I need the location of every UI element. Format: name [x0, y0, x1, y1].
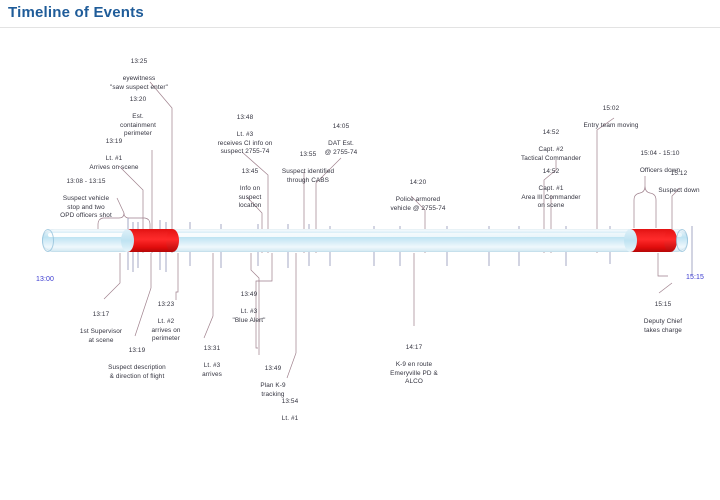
event-label-1420: 14:20 Police armored vehicle @ 2755-74 — [371, 171, 465, 221]
event-time-1405: 14:05 — [306, 123, 376, 131]
event-text-1515: Deputy Chief takes charge — [615, 318, 711, 335]
event-text-1320: Est. containment perimeter — [100, 113, 176, 138]
event-time-1325: 13:25 — [92, 58, 186, 66]
timeline-bar-left-end — [42, 229, 54, 252]
event-label-1502: 15:02 Entry team moving — [556, 97, 666, 139]
event-time-1515: 15:15 — [615, 301, 711, 309]
event-time-1420: 14:20 — [371, 179, 465, 187]
event-text-1319-desc: Suspect description & direction of fligh… — [87, 364, 187, 381]
event-text-1308: Suspect vehicle stop and two OPD officer… — [38, 195, 134, 220]
event-label-1405: 14:05 DAT Est. @ 2755-74 — [306, 115, 376, 165]
event-text-1452-capt1: Capt. #1 Area III Commander on scene — [500, 185, 602, 210]
event-text-1355: Suspect identified through CABS — [262, 168, 354, 185]
event-text-1502: Entry team moving — [556, 122, 666, 130]
page-title: Timeline of Events — [8, 4, 144, 21]
timeline-bar-right-end — [676, 229, 688, 252]
event-text-1405: DAT Est. @ 2755-74 — [306, 140, 376, 157]
event-text-1331: Lt. #3 arrives — [185, 362, 239, 379]
event-time-1317: 13:17 — [55, 311, 147, 319]
event-text-1417: K-9 en route Emeryville PD & ALCO — [358, 361, 470, 386]
event-time-1452-capt1: 14:52 — [500, 168, 602, 176]
event-text-1319-lt1: Lt. #1 Arrives on scene — [69, 155, 159, 172]
timeline-slide: Timeline of Events — [0, 0, 720, 500]
timeline-segment-officers-shot-cap-left — [121, 229, 134, 252]
timeline-segment-officers-shot-cap-right — [166, 229, 179, 252]
event-label-1354: 13:54 Lt. #1 — [262, 390, 318, 432]
event-text-1354: Lt. #1 — [262, 415, 318, 423]
timeline-segment-officers-down-cap-left — [624, 229, 637, 252]
event-time-1348: 13:48 — [196, 114, 294, 122]
timeline-start-marker: 13:00 — [36, 276, 76, 284]
event-time-1331: 13:31 — [185, 345, 239, 353]
event-time-1323: 13:23 — [135, 301, 197, 309]
title-divider — [0, 27, 720, 28]
event-time-1417: 14:17 — [358, 344, 470, 352]
event-label-1349-blue: 13:49 Lt. #3 "Blue Alert" — [218, 283, 280, 333]
event-label-1417: 14:17 K-9 en route Emeryville PD & ALCO — [358, 336, 470, 395]
event-time-1349-blue: 13:49 — [218, 291, 280, 299]
event-time-1504: 15:04 - 15:10 — [618, 150, 702, 158]
event-time-1502: 15:02 — [556, 105, 666, 113]
event-time-1349-k9: 13:49 — [242, 365, 304, 373]
event-time-1512: 15:12 — [641, 170, 717, 178]
timeline-end-marker: 15:15 — [660, 274, 704, 282]
event-label-1512: 15:12 Suspect down — [641, 162, 717, 204]
event-text-1349-blue: Lt. #3 "Blue Alert" — [218, 308, 280, 325]
event-label-1452-capt1: 14:52 Capt. #1 Area III Commander on sce… — [500, 160, 602, 219]
event-text-1512: Suspect down — [641, 187, 717, 195]
event-label-1331: 13:31 Lt. #3 arrives — [185, 337, 239, 387]
event-text-1420: Police armored vehicle @ 2755-74 — [371, 196, 465, 213]
event-label-1325: 13:25 eyewitness "saw suspect enter" — [92, 50, 186, 100]
event-text-1325: eyewitness "saw suspect enter" — [92, 75, 186, 92]
event-label-1515: 15:15 Deputy Chief takes charge — [615, 293, 711, 343]
event-time-1354: 13:54 — [262, 398, 318, 406]
